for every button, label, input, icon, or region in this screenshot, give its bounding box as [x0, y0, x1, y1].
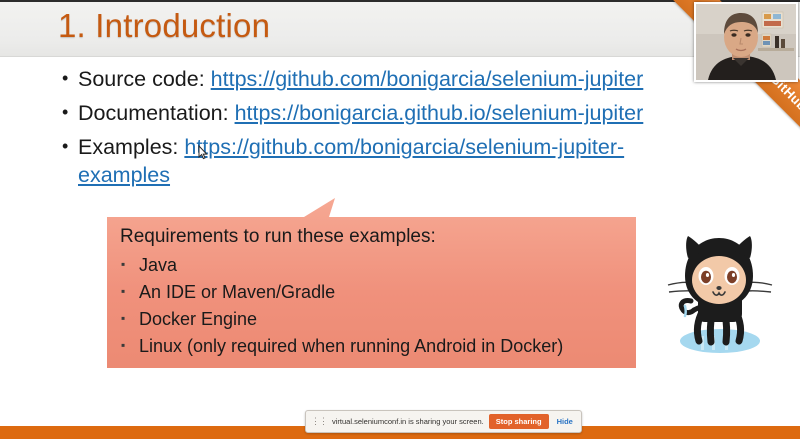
bullet-examples: •Examples: https://github.com/bonigarcia… [62, 132, 624, 162]
bullet-dot-icon: • [62, 64, 78, 93]
sub-bullet-dot-icon: ▪ [121, 338, 139, 352]
callout-item-label: Docker Engine [139, 309, 257, 329]
drag-handle-icon[interactable]: ⋮⋮ [311, 416, 327, 427]
bullet-label-documentation: Documentation: [78, 101, 235, 125]
callout-item-label: Linux (only required when running Androi… [139, 336, 563, 356]
link-documentation[interactable]: https://bonigarcia.github.io/selenium-ju… [235, 101, 644, 125]
bullet-source-code: •Source code: https://github.com/bonigar… [62, 64, 643, 94]
sub-bullet-dot-icon: ▪ [121, 257, 139, 271]
presentation-slide: 1. Introduction •Source code: https://gi… [0, 0, 800, 439]
callout-item-label: Java [139, 255, 177, 275]
requirements-callout: Requirements to run these examples: ▪Jav… [107, 198, 636, 368]
github-octocat-icon [655, 228, 785, 363]
sub-bullet-dot-icon: ▪ [121, 284, 139, 298]
bullet-label-source-code: Source code: [78, 67, 211, 91]
sub-bullet-dot-icon: ▪ [121, 311, 139, 325]
link-source-code[interactable]: https://github.com/bonigarcia/selenium-j… [211, 67, 644, 91]
link-examples-continuation[interactable]: examples [78, 161, 170, 190]
webcam-video-frame [696, 4, 796, 80]
bullet-dot-icon: • [62, 98, 78, 127]
callout-item-docker: ▪Docker Engine [121, 309, 257, 330]
link-examples[interactable]: https://github.com/bonigarcia/selenium-j… [184, 135, 624, 159]
callout-content: Requirements to run these examples: ▪Jav… [107, 198, 636, 368]
bullet-label-examples: Examples: [78, 135, 184, 159]
bullet-documentation: •Documentation: https://bonigarcia.githu… [62, 98, 643, 128]
callout-item-label: An IDE or Maven/Gradle [139, 282, 335, 302]
share-status-message: virtual.seleniumconf.in is sharing your … [332, 417, 484, 426]
bullet-dot-icon: • [62, 132, 78, 161]
callout-item-linux: ▪Linux (only required when running Andro… [121, 336, 563, 357]
hide-button[interactable]: Hide [554, 415, 576, 428]
callout-heading: Requirements to run these examples: [120, 226, 436, 248]
stop-sharing-button[interactable]: Stop sharing [489, 414, 549, 429]
screen-share-bar: ⋮⋮ virtual.seleniumconf.in is sharing yo… [305, 410, 582, 433]
callout-item-java: ▪Java [121, 255, 177, 276]
page-title: 1. Introduction [58, 7, 270, 45]
presenter-webcam-thumbnail[interactable] [694, 2, 798, 82]
callout-item-ide: ▪An IDE or Maven/Gradle [121, 282, 335, 303]
